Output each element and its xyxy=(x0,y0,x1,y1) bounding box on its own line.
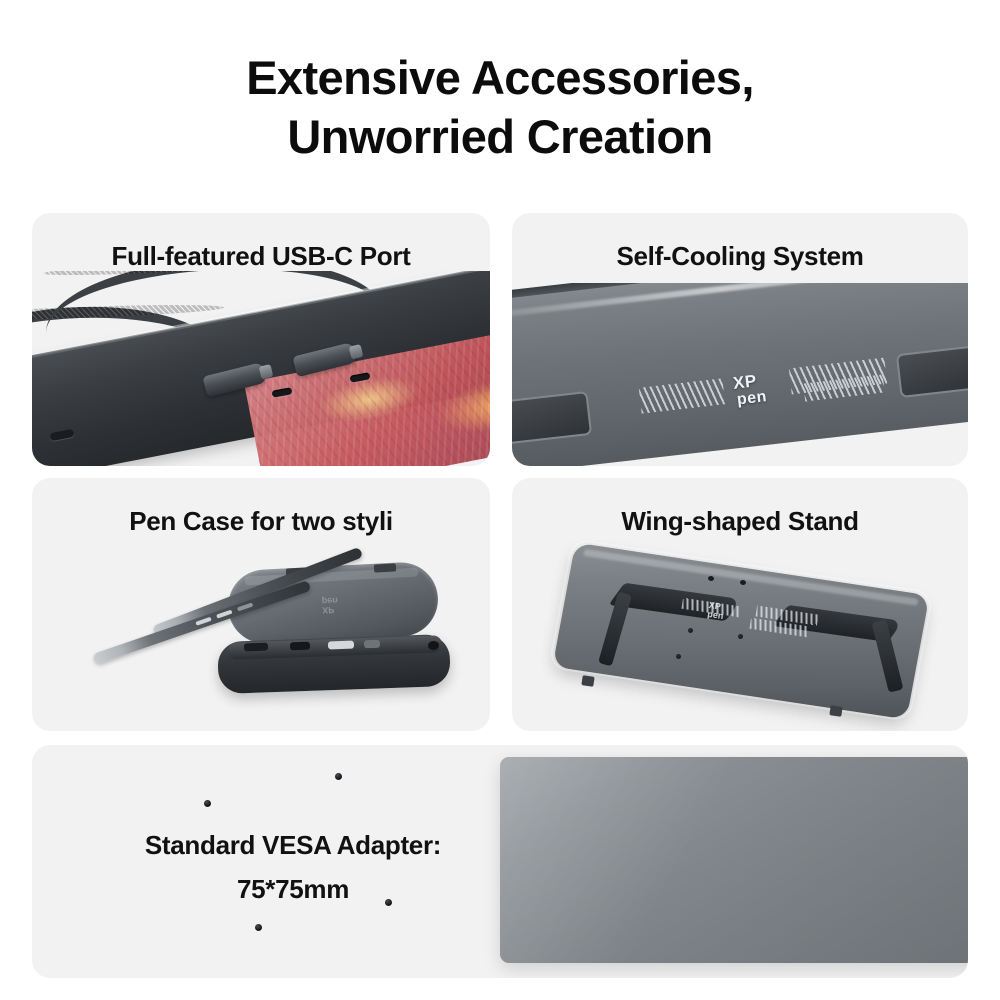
vesa-screw-hole-3 xyxy=(255,924,262,931)
page-title: Extensive Accessories, Unworried Creatio… xyxy=(0,48,1000,166)
rear-screw-1 xyxy=(688,628,693,633)
feature-card-usb-c-port[interactable]: Full-featured USB-C Port xyxy=(32,213,490,466)
accessories-infographic: Extensive Accessories, Unworried Creatio… xyxy=(0,0,1000,1000)
vesa-title-line-2: 75*75mm xyxy=(78,867,508,911)
feature-card-vesa-adapter[interactable]: Standard VESA Adapter: 75*75mm xyxy=(32,745,968,978)
card-title-self-cooling-system: Self-Cooling System xyxy=(512,241,968,272)
vesa-screw-hole-2 xyxy=(335,773,342,780)
rear-screw-3 xyxy=(676,654,681,659)
xp-pen-logo: XP pen xyxy=(707,601,726,621)
tray-slot-1 xyxy=(244,643,268,652)
tray-slot-2 xyxy=(290,642,310,651)
feature-card-self-cooling-system[interactable]: Self-Cooling System XP pen xyxy=(512,213,968,466)
feature-card-wing-shaped-stand[interactable]: Wing-shaped Stand XP pen xyxy=(512,478,968,731)
xp-pen-logo: XP pen xyxy=(732,371,768,408)
vesa-screw-hole-1 xyxy=(204,800,211,807)
headline-line-1: Extensive Accessories, xyxy=(246,51,754,104)
tray-slot-3 xyxy=(328,641,354,650)
xp-pen-logo-line-2: pen xyxy=(736,388,768,408)
pen-case-hinge-right xyxy=(374,563,396,572)
rear-foot-left xyxy=(581,675,594,687)
stylus-button-1 xyxy=(195,617,211,626)
card-title-pen-case: Pen Case for two styli xyxy=(32,506,490,537)
rear-panel-right xyxy=(896,344,968,398)
pen-case-logo: XPpen xyxy=(322,596,339,615)
card-title-vesa-adapter: Standard VESA Adapter: 75*75mm xyxy=(78,823,508,911)
xp-pen-logo-line-2: pen xyxy=(707,609,724,621)
rear-foot-right xyxy=(829,705,842,717)
card-title-wing-shaped-stand: Wing-shaped Stand xyxy=(512,506,968,537)
stylus-button-2 xyxy=(216,610,232,619)
stylus-button-3 xyxy=(237,602,253,611)
card-title-usb-c-port: Full-featured USB-C Port xyxy=(32,241,490,272)
tray-slot-4 xyxy=(364,640,380,649)
rear-screw-2 xyxy=(738,634,743,639)
headline-line-2: Unworried Creation xyxy=(0,107,1000,166)
vesa-title-line-1: Standard VESA Adapter: xyxy=(78,823,508,867)
vesa-mounting-plate xyxy=(500,757,968,963)
feature-card-pen-case[interactable]: Pen Case for two styli XPpen xyxy=(32,478,490,731)
